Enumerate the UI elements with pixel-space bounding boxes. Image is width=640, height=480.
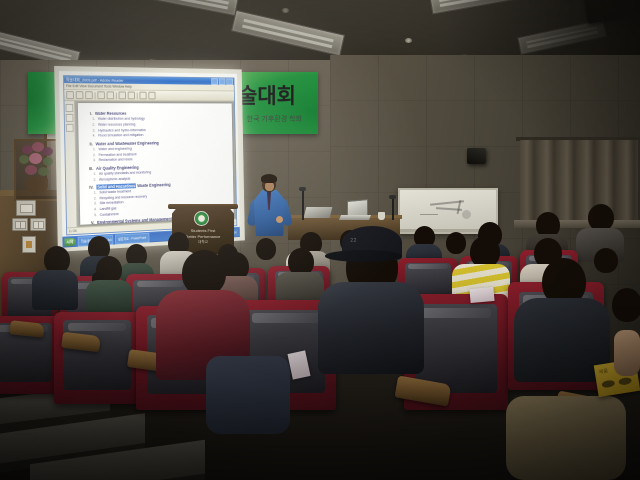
microphone-stand [302,190,304,220]
presenter-hand [276,216,283,223]
window-sill [514,220,640,228]
snapshot-icon[interactable] [128,92,135,100]
zoom-out-icon[interactable] [97,91,105,99]
pages-icon[interactable] [66,114,74,122]
print-icon[interactable] [76,91,84,99]
toolbar[interactable] [64,90,234,102]
sprinkler-icon [282,8,289,13]
outline-heading: I. Water Resources [86,111,227,116]
light-switch-panel[interactable] [12,218,28,231]
lecture-hall-photo: 2 일시 술대회 한국 기후환경 학회 학술대회_2009.pdf - Adob… [0,0,640,480]
wall-speaker [467,148,486,164]
navigation-pane[interactable] [64,101,77,227]
microphone-stand [392,198,394,220]
baseball-cap: 22 [342,226,402,260]
university-crest-icon [194,211,209,226]
presenter-hair [261,174,277,183]
microphone-icon [299,187,306,191]
email-icon[interactable] [85,91,93,99]
select-icon[interactable] [119,91,126,99]
taskbar-item[interactable]: 발표자료 - PowerPoint [115,232,149,244]
outline-item: 1.Water distribution and hydrology [87,117,228,122]
wall-outlet [22,236,36,253]
light-switch-panel[interactable] [16,200,36,216]
zoom-in-icon[interactable] [107,91,115,99]
equipment-box [304,207,333,218]
page-indicator: 1 / 24 [69,228,77,234]
light-switch-panel[interactable] [30,218,46,231]
outline-item: 4.Flood simulation and mitigation [87,132,228,138]
open-icon[interactable] [66,91,74,99]
attachments-icon[interactable] [66,124,74,132]
outline-numeral: I. [86,111,92,116]
outline-heading-text: Water Resources [95,111,126,116]
find-icon[interactable] [139,92,146,100]
page-fit-icon[interactable] [148,92,155,100]
drinking-cup [378,212,385,220]
banner-title: 술대회 [238,80,296,110]
handout-paper [469,287,494,303]
laptop-keyboard [339,215,371,220]
banner-note: 한국 기후환경 학회 [247,114,302,124]
microphone-icon [389,195,396,199]
start-button[interactable]: 시작 [64,237,76,246]
window-curtain [520,140,638,222]
bookmarks-icon[interactable] [65,104,73,112]
presenter-face [265,182,274,191]
